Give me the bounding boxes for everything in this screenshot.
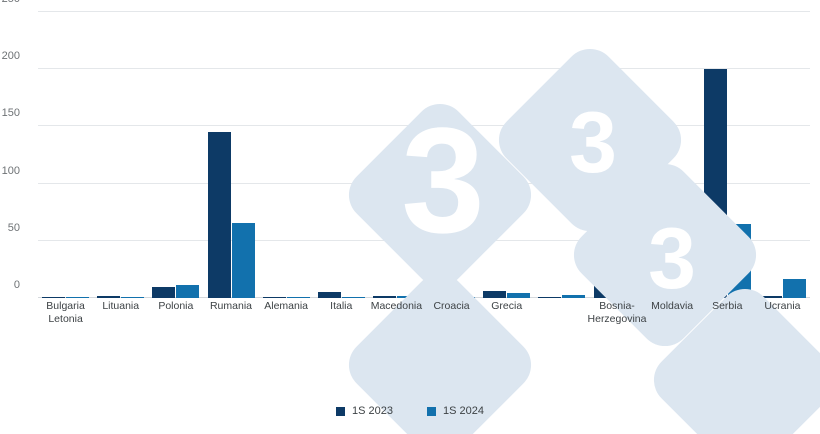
- bar-1s-2023[interactable]: [704, 69, 727, 298]
- bar-group: [97, 12, 144, 298]
- bar-group: [649, 12, 696, 298]
- bar-group: [318, 12, 365, 298]
- bar-1s-2023[interactable]: [208, 132, 231, 298]
- bar-1s-2023[interactable]: [428, 263, 451, 298]
- bar-1s-2024[interactable]: [342, 297, 365, 298]
- bar-chart: 3 3 3 050100150200250 Bulgaria LetoniaLi…: [0, 0, 820, 434]
- legend-swatch-icon: [336, 407, 345, 416]
- bar-1s-2023[interactable]: [483, 291, 506, 298]
- bars-layer: [38, 12, 810, 298]
- bar-1s-2023[interactable]: [649, 281, 672, 298]
- bar-group: [594, 12, 641, 298]
- bar-group: [373, 12, 420, 298]
- bar-group: [483, 12, 530, 298]
- y-axis-tick-label: 100: [0, 165, 20, 177]
- chart-legend: 1S 20231S 2024: [0, 405, 820, 417]
- bar-1s-2024[interactable]: [562, 295, 585, 298]
- bar-group: [263, 12, 310, 298]
- bar-group: [704, 12, 751, 298]
- bar-group: [152, 12, 199, 298]
- bar-1s-2024[interactable]: [287, 297, 310, 299]
- bar-1s-2023[interactable]: [152, 287, 175, 298]
- legend-label: 1S 2023: [352, 405, 393, 417]
- y-axis-tick-label: 200: [0, 50, 20, 62]
- bar-group: [538, 12, 585, 298]
- bar-1s-2024[interactable]: [176, 285, 199, 298]
- bar-1s-2023[interactable]: [42, 297, 65, 298]
- bar-1s-2023[interactable]: [759, 296, 782, 298]
- bar-1s-2024[interactable]: [728, 224, 751, 298]
- x-axis-tick-label: Grecia: [473, 300, 540, 313]
- bar-1s-2023[interactable]: [318, 292, 341, 298]
- bar-1s-2024[interactable]: [232, 223, 255, 299]
- bar-1s-2024[interactable]: [507, 293, 530, 298]
- bar-1s-2024[interactable]: [452, 297, 475, 298]
- y-axis-tick-label: 0: [0, 279, 20, 291]
- bar-1s-2023[interactable]: [263, 297, 286, 298]
- bar-group: [759, 12, 806, 298]
- y-axis-tick-label: 50: [0, 222, 20, 234]
- bar-1s-2023[interactable]: [97, 296, 120, 298]
- bar-1s-2024[interactable]: [397, 296, 420, 298]
- x-axis-labels: Bulgaria LetoniaLituaniaPoloniaRumaniaAl…: [38, 300, 810, 340]
- legend-item[interactable]: 1S 2023: [336, 405, 393, 417]
- y-axis-tick-label: 250: [0, 0, 20, 5]
- bar-1s-2024[interactable]: [66, 297, 89, 299]
- plot-area: 050100150200250: [38, 12, 810, 298]
- bar-1s-2024[interactable]: [618, 277, 641, 298]
- bar-1s-2024[interactable]: [673, 293, 696, 298]
- bar-1s-2023[interactable]: [373, 296, 396, 298]
- legend-label: 1S 2024: [443, 405, 484, 417]
- bar-group: [208, 12, 255, 298]
- y-axis-tick-label: 150: [0, 107, 20, 119]
- bar-1s-2024[interactable]: [121, 297, 144, 299]
- legend-item[interactable]: 1S 2024: [427, 405, 484, 417]
- bar-1s-2023[interactable]: [538, 297, 561, 299]
- bar-group: [428, 12, 475, 298]
- x-axis-tick-label: Ucrania: [749, 300, 816, 313]
- bar-1s-2024[interactable]: [783, 279, 806, 298]
- legend-swatch-icon: [427, 407, 436, 416]
- bar-1s-2023[interactable]: [594, 272, 617, 298]
- bar-group: [42, 12, 89, 298]
